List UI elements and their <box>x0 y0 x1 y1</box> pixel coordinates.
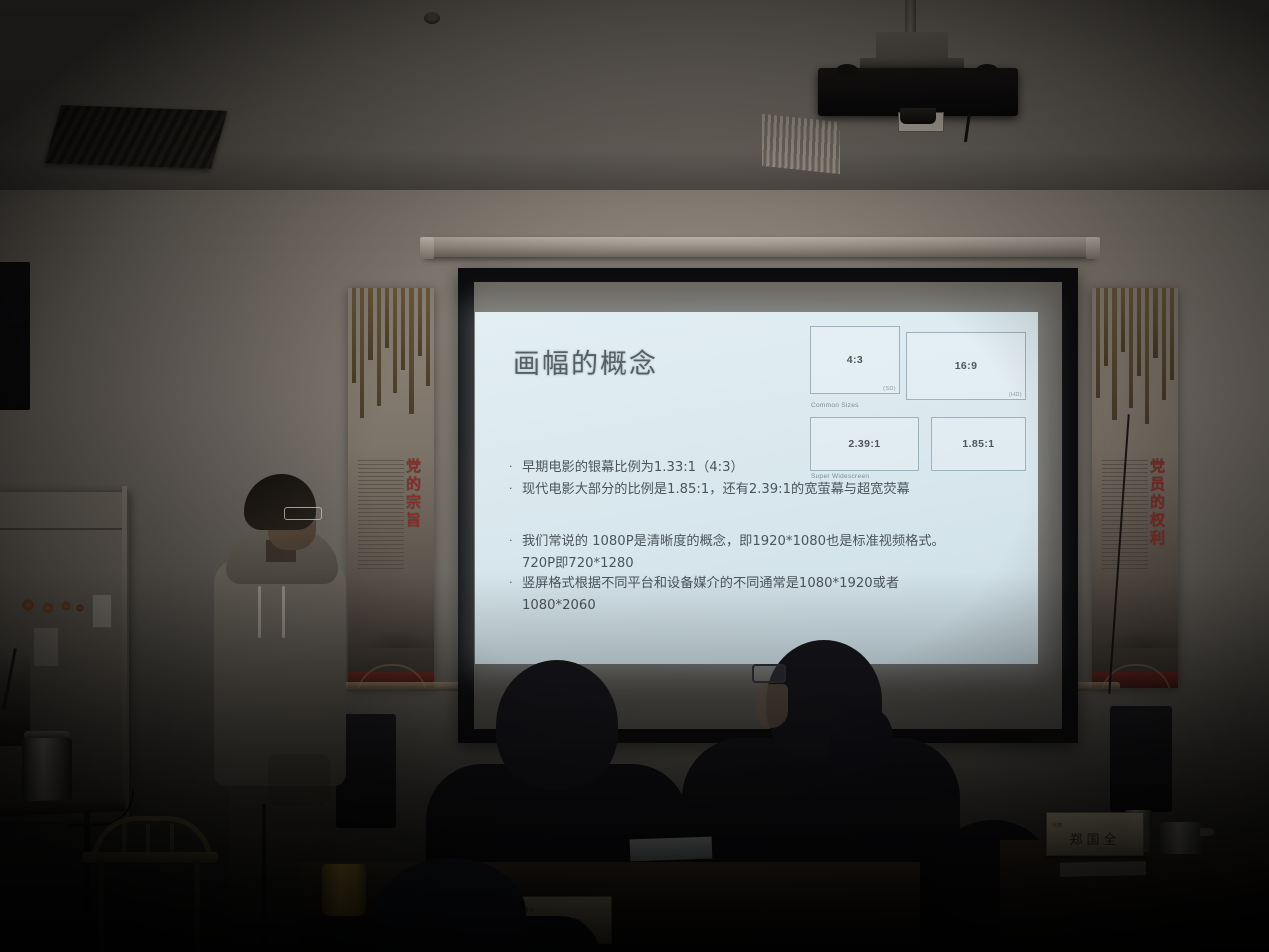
classroom-photo: 党的宗旨 党员的权利 画幅的概念 <box>0 0 1269 952</box>
aspect-box-1-85-1-label: 1.85:1 <box>962 438 994 450</box>
teapot-spout <box>1200 828 1214 836</box>
desk-papers <box>630 837 713 862</box>
audience-head <box>496 660 618 790</box>
aspect-box-4-3: 4:3 (SD) <box>810 326 900 394</box>
slide-bullet-item: · 早期电影的银幕比例为1.33:1（4:3） <box>509 458 1014 478</box>
slide-bullet-item: · 我们常说的 1080P是清晰度的概念，即1920*1080也是标准视频格式。 <box>509 532 1014 552</box>
audience-head <box>376 858 526 952</box>
slide-bullet-text: 竖屏格式根据不同平台和设备媒介的不同通常是1080*1920或者 <box>522 574 1014 594</box>
placard-subtitle: 代表 <box>1052 822 1063 829</box>
board-trim-line <box>0 528 126 530</box>
screen-roller-housing <box>424 237 1096 257</box>
slide-bullet-text: 现代电影大部分的比例是1.85:1，还有2.39:1的宽萤幕与超宽荧幕 <box>522 480 1014 500</box>
wall-speaker-right <box>1110 706 1172 812</box>
slide-bullet-item: · 现代电影大部分的比例是1.85:1，还有2.39:1的宽萤幕与超宽荧幕 <box>509 480 1014 500</box>
hoodie-pocket <box>268 754 330 806</box>
slide-bullet-subline: 1080*2060 <box>509 596 1014 616</box>
projector-knob-right <box>976 64 998 77</box>
wall-banner-right: 党员的权利 <box>1092 288 1178 688</box>
presenter-glasses-icon <box>284 507 322 520</box>
ceiling-vent-icon <box>45 105 228 169</box>
board-paper-note <box>34 628 58 666</box>
chair-leg <box>98 862 104 952</box>
placard-name: 郑国全 <box>1069 829 1120 848</box>
board-info-card <box>92 594 112 628</box>
bullet-dot-icon: · <box>509 480 522 500</box>
slide-bullet-list: · 早期电影的银幕比例为1.33:1（4:3） · 现代电影大部分的比例是1.8… <box>509 458 1014 616</box>
banner-left-title: 党的宗旨 <box>403 458 424 530</box>
aspect-box-4-3-label: 4:3 <box>847 354 863 366</box>
electric-kettle <box>22 738 72 804</box>
audience-member-front-left <box>330 858 580 952</box>
presenter-hair <box>244 474 316 530</box>
presenter-hoodie-body <box>214 558 346 786</box>
banner-ink-painting <box>1092 578 1178 648</box>
slide-bullet-text: 我们常说的 1080P是清晰度的概念，即1920*1080也是标准视频格式。 <box>522 532 1014 552</box>
audience-face-profile <box>756 684 788 728</box>
banner-bars-decoration <box>1096 288 1174 418</box>
banner-right-title: 党员的权利 <box>1147 458 1168 548</box>
slide-bullet-item: · 竖屏格式根据不同平台和设备媒介的不同通常是1080*1920或者 <box>509 574 1014 594</box>
aspect-box-2-39-1-label: 2.39:1 <box>848 438 880 450</box>
aspect-box-16-9-label: 16:9 <box>955 360 978 372</box>
ceiling-panel-icon <box>762 114 840 174</box>
roller-end-right <box>1086 237 1100 259</box>
aspect-box-16-9: 16:9 (HD) <box>906 332 1026 400</box>
bullet-dot-icon: · <box>509 574 522 594</box>
audience-glasses-icon <box>752 664 786 683</box>
slide-bullet-subline: 720P即720*1280 <box>509 554 1014 574</box>
projected-slide: 画幅的概念 4:3 (SD) 16:9 (HD) Common Sizes <box>475 312 1038 664</box>
right-desk <box>1000 840 1269 952</box>
projector-knob-left <box>836 64 858 77</box>
aspect-box-16-9-tag: (HD) <box>1009 392 1022 398</box>
bullet-spacer <box>509 502 1014 532</box>
banner-bars-decoration <box>352 288 430 418</box>
aspect-box-4-3-tag: (SD) <box>883 386 896 392</box>
diagram-row-common: 4:3 (SD) 16:9 (HD) <box>810 326 1026 400</box>
wall-mounted-monitor <box>0 262 30 410</box>
presenter-leg-separation <box>262 804 266 944</box>
diagram-label-common-sizes: Common Sizes <box>811 402 1026 409</box>
roller-end-left <box>420 237 434 259</box>
slide-bullet-text: 早期电影的银幕比例为1.33:1（4:3） <box>522 458 1014 478</box>
board-decoration-icon <box>16 592 88 618</box>
bullet-dot-icon: · <box>509 532 522 552</box>
right-desk-papers <box>1060 861 1146 876</box>
name-placard-right: 代表 郑国全 <box>1046 812 1144 856</box>
ceiling-fixture-icon <box>424 12 440 24</box>
hoodie-drawstring <box>258 586 261 638</box>
bullet-dot-icon: · <box>509 458 522 478</box>
teapot <box>1160 822 1204 854</box>
projector-lens-icon <box>900 108 936 124</box>
hoodie-drawstring <box>282 586 285 638</box>
slide-title: 画幅的概念 <box>513 342 658 381</box>
